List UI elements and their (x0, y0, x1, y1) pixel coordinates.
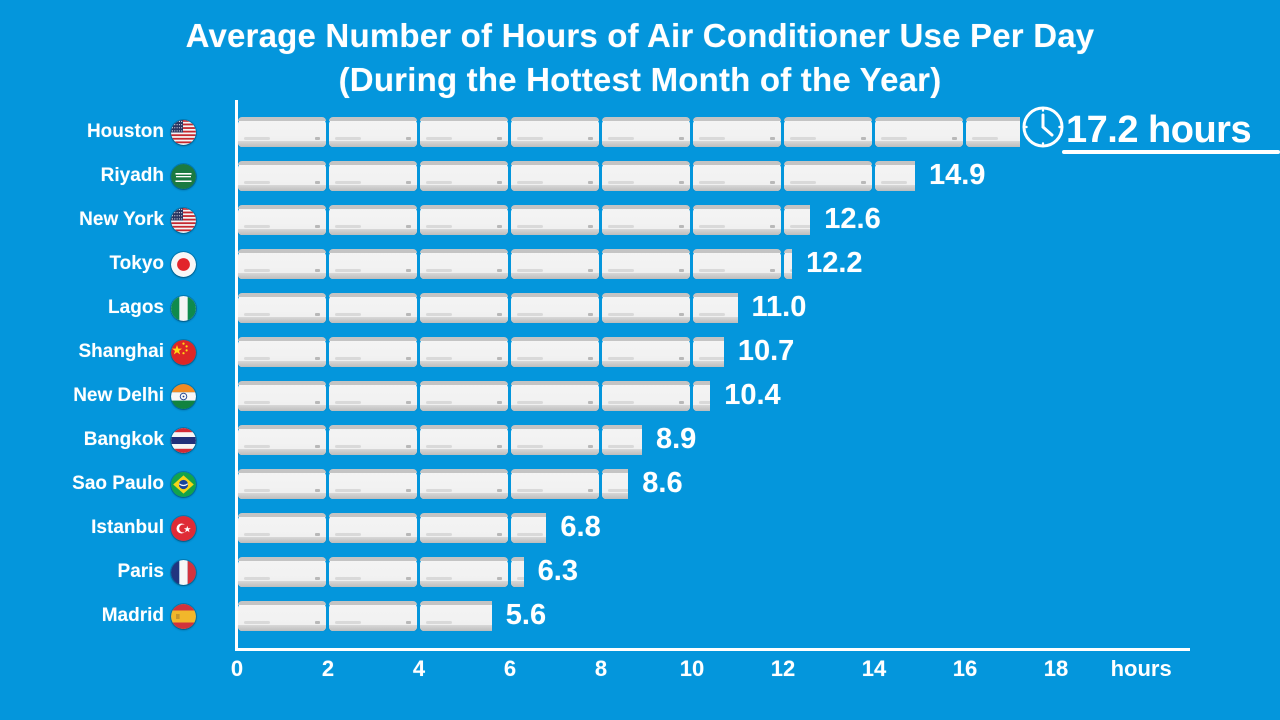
category-name: Sao Paulo (72, 473, 164, 495)
bar-segment (237, 513, 328, 543)
category-label-sao-paulo: Sao Paulo (0, 462, 196, 506)
value-bar (237, 337, 724, 367)
bar-segment (237, 425, 328, 455)
category-label-houston: Houston (0, 110, 196, 154)
bar-row: Madrid 5.6 (237, 594, 1190, 638)
value-label: 14.9 (929, 159, 985, 192)
bar-segment (237, 557, 328, 587)
bar-segment (237, 601, 328, 631)
value-bar (237, 249, 792, 279)
bar-segment (783, 161, 874, 191)
bar-segment (328, 249, 419, 279)
bar-row: Riyadh 14.9 (237, 154, 1190, 198)
bar-segment (237, 381, 328, 411)
bar-segment (419, 381, 510, 411)
bar-segment (692, 381, 710, 411)
bar-segment (419, 337, 510, 367)
value-label: 10.7 (738, 335, 794, 368)
bar-segment (419, 601, 492, 631)
plot-area: Houston Riyadh 14.9New York 12.6Tokyo 12… (237, 100, 1190, 648)
value-bar (237, 513, 546, 543)
bar-segment (237, 337, 328, 367)
bar-segment (510, 117, 601, 147)
bar-segment (328, 601, 419, 631)
bar-segment (419, 425, 510, 455)
category-name: Madrid (102, 605, 164, 627)
flag-japan-icon (171, 252, 196, 277)
callout-text: 17.2 hours (1066, 111, 1251, 149)
bar-segment (328, 117, 419, 147)
bar-segment (692, 161, 783, 191)
callout-underline (1062, 150, 1280, 154)
bar-row: New Delhi 10.4 (237, 374, 1190, 418)
x-axis-line (235, 648, 1190, 651)
flag-saudi-arabia-icon (171, 164, 196, 189)
bar-segment (783, 249, 792, 279)
bar-segment (237, 293, 328, 323)
bar-segment (510, 557, 524, 587)
bar-row: Istanbul 6.8 (237, 506, 1190, 550)
bar-segment (328, 513, 419, 543)
flag-turkey-icon (171, 516, 196, 541)
value-label: 8.9 (656, 423, 696, 456)
bar-segment (874, 161, 915, 191)
x-tick-14: 14 (862, 656, 886, 682)
bar-segment (237, 161, 328, 191)
category-name: Tokyo (109, 253, 164, 275)
flag-india-icon (171, 384, 196, 409)
x-axis-ticks: 024681012141618hours (237, 656, 1190, 696)
bar-segment (237, 117, 328, 147)
value-bar (237, 205, 810, 235)
value-label: 5.6 (506, 599, 546, 632)
bar-segment (328, 425, 419, 455)
bar-row: Sao Paulo 8.6 (237, 462, 1190, 506)
category-name: Bangkok (84, 429, 164, 451)
bar-segment (419, 205, 510, 235)
bar-segment (510, 513, 546, 543)
flag-thailand-icon (171, 428, 196, 453)
bar-segment (874, 117, 965, 147)
category-label-tokyo: Tokyo (0, 242, 196, 286)
bar-segment (510, 161, 601, 191)
bar-segment (783, 117, 874, 147)
bar-segment (510, 293, 601, 323)
bar-segment (692, 337, 724, 367)
bar-segment (601, 293, 692, 323)
value-bar (237, 557, 524, 587)
x-tick-16: 16 (953, 656, 977, 682)
clock-icon (1020, 104, 1066, 155)
flag-nigeria-icon (171, 296, 196, 321)
category-label-lagos: Lagos (0, 286, 196, 330)
bar-segment (601, 381, 692, 411)
value-label: 8.6 (642, 467, 682, 500)
bar-segment (419, 513, 510, 543)
bar-segment (328, 469, 419, 499)
bar-segment (328, 161, 419, 191)
chart-title-line-2: (During the Hottest Month of the Year) (0, 58, 1280, 102)
bar-row: Shanghai 10.7 (237, 330, 1190, 374)
category-name: Riyadh (101, 165, 164, 187)
value-label: 12.2 (806, 247, 862, 280)
highlight-callout: 17.2 hours (1020, 104, 1251, 155)
x-tick-4: 4 (413, 656, 425, 682)
bar-segment (510, 469, 601, 499)
bar-segment (419, 161, 510, 191)
bar-segment (328, 381, 419, 411)
bar-row: Tokyo 12.2 (237, 242, 1190, 286)
bar-segment (510, 205, 601, 235)
bar-segment (601, 249, 692, 279)
x-axis-unit-label: hours (1111, 656, 1172, 682)
x-tick-6: 6 (504, 656, 516, 682)
category-name: New York (79, 209, 164, 231)
bar-segment (692, 117, 783, 147)
x-tick-8: 8 (595, 656, 607, 682)
category-label-madrid: Madrid (0, 594, 196, 638)
category-name: Shanghai (78, 341, 164, 363)
bar-segment (419, 249, 510, 279)
bar-segment (237, 469, 328, 499)
category-label-shanghai: Shanghai (0, 330, 196, 374)
value-label: 6.8 (560, 511, 600, 544)
flag-united-states-icon (171, 208, 196, 233)
chart-root: Average Number of Hours of Air Condition… (0, 0, 1280, 720)
bar-segment (692, 205, 783, 235)
value-bar (237, 381, 710, 411)
flag-spain-icon (171, 604, 196, 629)
bar-segment (328, 557, 419, 587)
bar-segment (237, 249, 328, 279)
category-name: Lagos (108, 297, 164, 319)
bar-segment (510, 425, 601, 455)
flag-united-states-icon (171, 120, 196, 145)
flag-brazil-icon (171, 472, 196, 497)
bar-segment (328, 337, 419, 367)
value-label: 10.4 (724, 379, 780, 412)
category-name: Istanbul (91, 517, 164, 539)
x-tick-10: 10 (680, 656, 704, 682)
bar-segment (328, 205, 419, 235)
bar-segment (601, 337, 692, 367)
category-label-new-york: New York (0, 198, 196, 242)
bar-segment (783, 205, 810, 235)
category-name: Paris (118, 561, 164, 583)
category-label-paris: Paris (0, 550, 196, 594)
bar-row: Bangkok 8.9 (237, 418, 1190, 462)
category-label-riyadh: Riyadh (0, 154, 196, 198)
bar-segment (510, 381, 601, 411)
bar-segment (419, 469, 510, 499)
value-label: 11.0 (752, 291, 807, 324)
value-label: 12.6 (824, 203, 880, 236)
flag-china-icon (171, 340, 196, 365)
chart-title: Average Number of Hours of Air Condition… (0, 14, 1280, 101)
bar-segment (237, 205, 328, 235)
bar-row: Lagos 11.0 (237, 286, 1190, 330)
bar-segment (419, 117, 510, 147)
bar-segment (601, 469, 628, 499)
chart-title-line-1: Average Number of Hours of Air Condition… (0, 14, 1280, 58)
value-bar (237, 117, 1020, 147)
value-bar (237, 425, 642, 455)
value-bar (237, 601, 492, 631)
bar-segment (419, 293, 510, 323)
category-label-bangkok: Bangkok (0, 418, 196, 462)
bar-segment (510, 337, 601, 367)
bar-segment (692, 249, 783, 279)
bar-segment (601, 161, 692, 191)
bar-segment (419, 557, 510, 587)
bar-segment (601, 205, 692, 235)
bar-segment (328, 293, 419, 323)
flag-france-icon (171, 560, 196, 585)
x-tick-2: 2 (322, 656, 334, 682)
bar-segment (510, 249, 601, 279)
bar-row: New York 12.6 (237, 198, 1190, 242)
bar-segment (601, 117, 692, 147)
x-tick-18: 18 (1044, 656, 1068, 682)
value-bar (237, 161, 915, 191)
category-name: New Delhi (73, 385, 164, 407)
category-label-new-delhi: New Delhi (0, 374, 196, 418)
value-label: 6.3 (538, 555, 578, 588)
x-tick-0: 0 (231, 656, 243, 682)
bar-segment (965, 117, 1020, 147)
value-bar (237, 469, 628, 499)
bar-row: Paris 6.3 (237, 550, 1190, 594)
value-bar (237, 293, 738, 323)
x-tick-12: 12 (771, 656, 795, 682)
category-label-istanbul: Istanbul (0, 506, 196, 550)
category-name: Houston (87, 121, 164, 143)
bar-segment (692, 293, 738, 323)
bar-segment (601, 425, 642, 455)
